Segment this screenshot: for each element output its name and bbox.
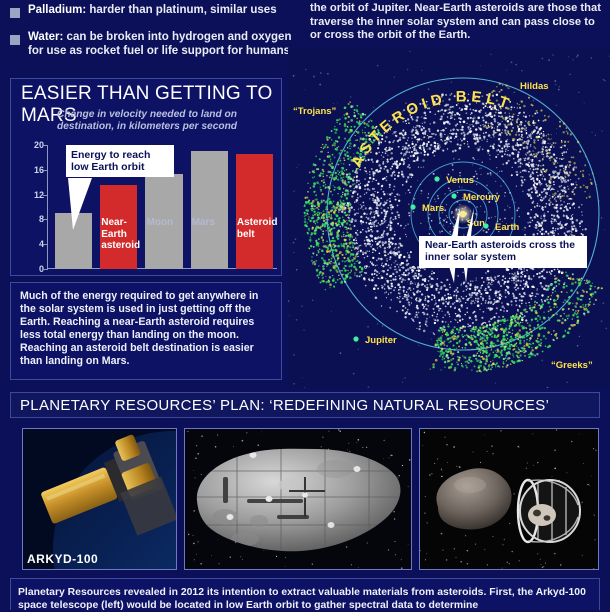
photo-caption: ARKYD-100 [27,552,98,566]
solar-system-diagram: SunMercuryVenusEarthMarsJupiter ASTEROID… [288,48,610,388]
photo-asteroid-capture [419,428,599,570]
intro-paragraph: the orbit of Jupiter. Near-Earth asteroi… [310,2,602,43]
section-header-bar: PLANETARY RESOURCES’ PLAN: ‘REDEFINING N… [10,392,600,418]
photo-arkyd-100: ARKYD-100 [22,428,177,570]
section-header-title: PLANETARY RESOURCES’ PLAN: ‘REDEFINING N… [20,397,549,414]
chart-subtitle: Change in velocity needed to land on des… [57,109,267,134]
bullet-rest: harder than platinum, similar uses [86,4,276,16]
planet-dot [410,204,415,209]
planet-label: Earth [495,222,519,233]
bullet-rest: can be broken into hydrogen and oxygen f… [28,31,291,57]
bullet-term: Palladium: [28,4,86,16]
planet-dot [353,336,358,341]
infographic-page: Palladium: harder than platinum, similar… [0,0,610,610]
bar [236,154,273,269]
planet-label: Jupiter [365,335,397,346]
chart-explainer-text: Much of the energy required to get anywh… [10,282,282,380]
y-axis-line [47,145,48,269]
planet-label: Venus [446,175,474,186]
y-axis-tick-mark [43,269,48,270]
section-body-text: Planetary Resources revealed in 2012 its… [10,583,600,612]
bullet-square-icon [10,8,20,18]
bullet-square-icon [10,35,20,45]
bar-category-label: Near-Earthasteroid [101,217,144,252]
planet-label: Mercury [463,192,501,203]
planet-dot [451,193,456,198]
y-axis-tick-mark [43,244,48,245]
bullet-text: Palladium: harder than platinum, similar… [28,4,277,18]
solar-system-svg: SunMercuryVenusEarthMarsJupiter ASTEROID… [288,48,610,388]
near-earth-annotation: Near-Earth asteroids cross the inner sol… [419,236,587,268]
bullet-text: Water: can be broken into hydrogen and o… [28,31,302,58]
chart-panel: EASIER THAN GETTING TO MARS Change in ve… [10,78,282,276]
group-label: “Trojans” [293,106,337,117]
planet-dot [483,223,488,228]
bar-category-label: Mars [192,217,235,229]
callout-pointer-icon [68,178,96,235]
y-axis-tick-mark [43,145,48,146]
group-label: “Greeks” [551,360,593,371]
bullet-term: Water: [28,31,63,43]
y-axis-tick-mark [43,219,48,220]
leo-energy-callout: Energy to reach low Earth orbit [66,145,174,177]
photo-asteroid-grid [184,428,412,570]
y-axis-tick-mark [43,170,48,171]
bar-category-label: Moon [146,217,189,229]
planet-label: Mars [422,203,444,214]
bar-category-label: Asteroidbelt [237,217,280,240]
sun-body [460,211,466,217]
materials-bullet-list: Palladium: harder than platinum, similar… [10,4,302,71]
y-axis-tick-mark [43,195,48,196]
bar [191,151,228,269]
list-item: Palladium: harder than platinum, similar… [10,4,302,18]
list-item: Water: can be broken into hydrogen and o… [10,31,302,58]
group-label: Hildas [520,81,549,92]
planet-dot [434,176,439,181]
